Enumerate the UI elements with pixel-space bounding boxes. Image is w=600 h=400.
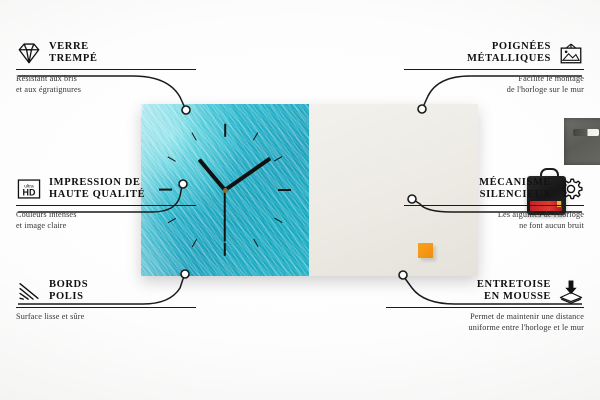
- callout-bords-polis: BORDS POLIS Surface lisse et sûre: [16, 278, 196, 323]
- callout-divider: [16, 69, 196, 70]
- callout-title-line1: IMPRESSION DE: [49, 177, 145, 190]
- callout-divider: [404, 205, 584, 206]
- callout-sub-line1: Couleurs intenses: [16, 210, 196, 221]
- foam-spacer: [418, 243, 433, 258]
- callout-header: VERRE TREMPÉ: [16, 40, 196, 66]
- clock-tick: [278, 189, 291, 191]
- clock-tick: [253, 239, 259, 247]
- infographic-canvas: VERRE TREMPÉ Résistant aux bris et aux é…: [0, 0, 600, 400]
- hanger-slot: [573, 129, 599, 136]
- callout-sub-line1: Surface lisse et sûre: [16, 312, 196, 323]
- callout-divider: [16, 205, 196, 206]
- callout-title-line2: SILENCIEUX: [479, 189, 551, 202]
- gear-icon: [558, 176, 584, 202]
- callout-sub-line2: et image claire: [16, 221, 196, 232]
- callout-divider: [386, 307, 584, 308]
- ultra-hd-icon-label-bottom: HD: [23, 188, 36, 198]
- callout-sub-line1: Permet de maintenir une distance: [386, 312, 584, 323]
- callout-sub-line2: ne font aucun bruit: [404, 221, 584, 232]
- callout-title-line1: MÉCANISME: [479, 177, 551, 190]
- polished-edges-icon: [16, 278, 42, 304]
- callout-header: BORDS POLIS: [16, 278, 196, 304]
- callout-impression-haute-qualite: ultra HD IMPRESSION DE HAUTE QUALITÉ Cou…: [16, 176, 196, 231]
- callout-sub-line2: de l'horloge sur le mur: [404, 85, 584, 96]
- clock-second-hand: [224, 190, 226, 242]
- callout-title-line2: TREMPÉ: [49, 53, 98, 66]
- callout-sub-line1: Résistant aux bris: [16, 74, 196, 85]
- callout-entretoise-en-mousse: ENTRETOISE EN MOUSSE Permet de maintenir…: [386, 278, 584, 333]
- callout-title-line2: MÉTALLIQUES: [467, 53, 551, 66]
- callout-title-line2: HAUTE QUALITÉ: [49, 189, 145, 202]
- diamond-icon: [16, 40, 42, 66]
- callout-title-line1: POIGNÉES: [467, 41, 551, 54]
- clock-hour-hand: [198, 158, 227, 191]
- clock-tick: [224, 124, 226, 137]
- callout-header: ultra HD IMPRESSION DE HAUTE QUALITÉ: [16, 176, 196, 202]
- ultra-hd-icon: ultra HD: [16, 176, 42, 202]
- metal-hanger-plate: [564, 118, 600, 165]
- callout-header: POIGNÉES MÉTALLIQUES: [404, 40, 584, 66]
- callout-sub-line2: uniforme entre l'horloge et le mur: [386, 323, 584, 334]
- clock-tick: [274, 218, 282, 224]
- picture-hanger-icon: [558, 40, 584, 66]
- callout-sub-line1: Facilite le montage: [404, 74, 584, 85]
- clock-tick: [167, 156, 175, 162]
- callout-mecanisme-silencieux: MÉCANISME SILENCIEUX Les aiguilles de l'…: [404, 176, 584, 231]
- callout-header: MÉCANISME SILENCIEUX: [404, 176, 584, 202]
- clock-tick: [253, 132, 259, 140]
- callout-title-line1: ENTRETOISE: [477, 279, 551, 292]
- callout-title-line1: BORDS: [49, 279, 88, 292]
- callout-divider: [404, 69, 584, 70]
- callout-poignees-metalliques: POIGNÉES MÉTALLIQUES Facilite le montage…: [404, 40, 584, 95]
- callout-divider: [16, 307, 196, 308]
- callout-title-line2: EN MOUSSE: [477, 291, 551, 304]
- clock-tick: [274, 156, 282, 162]
- callout-sub-line2: et aux égratignures: [16, 85, 196, 96]
- callout-title-line1: VERRE: [49, 41, 98, 54]
- callout-header: ENTRETOISE EN MOUSSE: [386, 278, 584, 304]
- clock-minute-hand: [224, 157, 271, 191]
- clock-tick: [191, 239, 197, 247]
- clock-tick: [191, 132, 197, 140]
- clock-tick: [224, 243, 226, 256]
- callout-verre-trempe: VERRE TREMPÉ Résistant aux bris et aux é…: [16, 40, 196, 95]
- foam-spacer-icon: [558, 278, 584, 304]
- callout-sub-line1: Les aiguilles de l'horloge: [404, 210, 584, 221]
- callout-title-line2: POLIS: [49, 291, 88, 304]
- clock-hub: [223, 188, 228, 193]
